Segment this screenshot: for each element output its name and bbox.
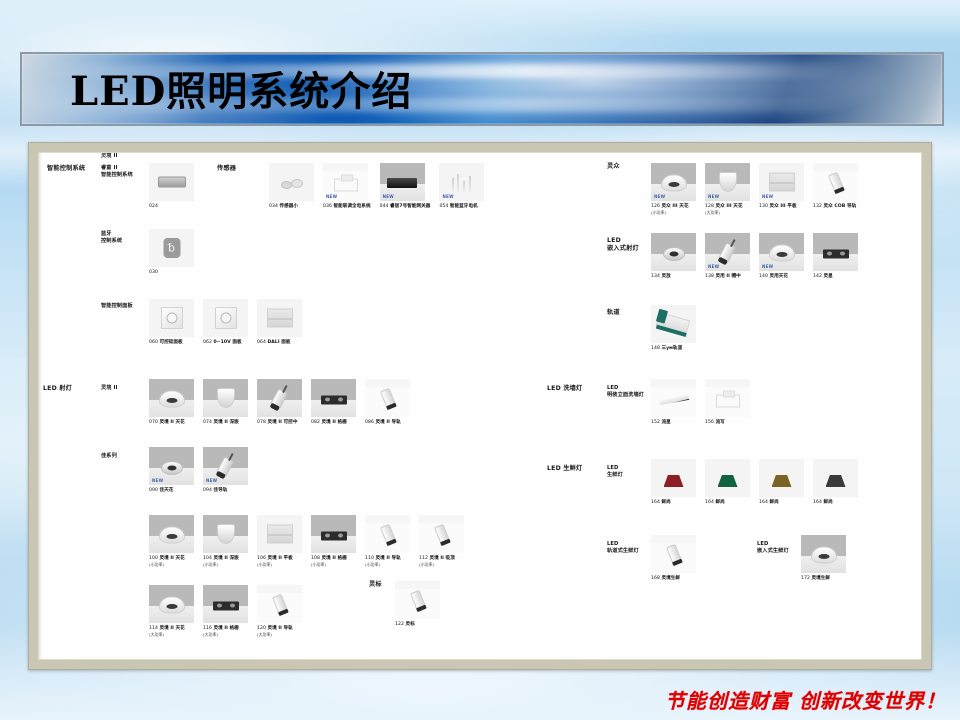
product-name: DALI 面板 xyxy=(267,340,290,345)
product-name: 智能蓝牙电机 xyxy=(450,204,478,209)
product-name: 佳导轨 xyxy=(213,488,227,493)
product-art-grille xyxy=(213,601,239,610)
product-caption: 122 灵标 xyxy=(395,622,440,628)
product-art-downlight xyxy=(159,596,185,613)
product-caption: 044 睿居7号智能网关器 xyxy=(380,204,431,210)
product-note: (大功率) xyxy=(705,210,750,215)
product-name: 灵境 II 可控中 xyxy=(267,420,297,425)
product-code: 164 xyxy=(759,500,769,505)
product-thumbnail xyxy=(203,515,248,553)
product-card[interactable]: NEW090 佳天花 xyxy=(149,447,194,494)
product-name: 灵境 II 深嵌 xyxy=(213,420,238,425)
product-art-driverbox xyxy=(158,177,186,188)
product-card[interactable]: 078 灵境 II 可控中 xyxy=(257,379,302,426)
product-caption: 172 灵境生鲜 xyxy=(801,576,846,582)
product-thumbnail xyxy=(365,379,410,417)
subcategory-title: 蓝牙 控制系统 xyxy=(101,231,122,246)
product-code: 100 xyxy=(149,556,159,561)
product-card[interactable]: 142 灵星 xyxy=(813,233,858,280)
section-title-led-spotlight: LED 射灯 xyxy=(43,385,72,393)
product-thumbnail: NEW xyxy=(380,163,425,201)
product-art-wallbox xyxy=(334,179,358,192)
product-caption: 112 灵境 II 吸顶(小功率) xyxy=(419,556,464,567)
product-caption: 090 佳天花 xyxy=(149,488,194,494)
product-card[interactable]: 086 灵境 II 导轨 xyxy=(365,379,410,426)
product-card[interactable]: 024 xyxy=(149,163,194,210)
product-code: 130 xyxy=(759,204,769,209)
product-caption: 110 灵境 II 导轨(小功率) xyxy=(365,556,410,567)
product-card[interactable]: 108 灵境 II 格栅(小功率) xyxy=(311,515,356,567)
product-card[interactable]: 060 可控硅面板 xyxy=(149,299,194,346)
product-art-blackbox xyxy=(387,178,417,188)
product-row: 134 灵放NEW138 灵用 II 帽中NEW140 灵用天花142 灵星 xyxy=(651,233,867,280)
product-code: 108 xyxy=(311,556,321,561)
product-code: 134 xyxy=(651,274,661,279)
product-note: (大功率) xyxy=(203,632,248,637)
product-row: 060 可控硅面板062 0~10V 面板064 DALI 面板 xyxy=(149,299,311,346)
product-row: 114 灵境 II 天花(大功率)116 灵境 II 格栅(大功率)120 灵境… xyxy=(149,585,311,637)
product-card[interactable]: 082 灵境 II 格栅 xyxy=(311,379,356,426)
product-card[interactable]: 168 灵境生鲜 xyxy=(651,535,696,582)
product-note: (大功率) xyxy=(257,632,302,637)
product-name: 鲜尚 xyxy=(715,500,724,505)
section-title-ling-biao: 灵标 xyxy=(369,581,382,589)
product-caption: 094 佳导轨 xyxy=(203,488,248,494)
product-thumbnail xyxy=(813,233,858,271)
product-name: 鲜尚 xyxy=(769,500,778,505)
product-card[interactable]: 164 鲜尚 xyxy=(651,459,696,506)
section-title-smart-control: 智能控制系统 xyxy=(47,165,85,173)
product-caption: 130 灵众 III 平板 xyxy=(759,204,804,210)
page-title: LED照明系统介绍 xyxy=(70,59,412,117)
product-name: 佳天花 xyxy=(159,488,173,493)
new-badge: NEW xyxy=(206,478,217,483)
product-thumbnail xyxy=(269,163,314,201)
new-badge: NEW xyxy=(326,194,337,199)
product-art-antenna xyxy=(450,174,474,192)
product-code: 164 xyxy=(651,500,661,505)
product-thumbnail: NEW xyxy=(705,233,750,271)
product-thumbnail xyxy=(419,515,464,553)
product-name: 灵境 II 格栅 xyxy=(321,556,346,561)
product-note: (小功率) xyxy=(651,210,696,215)
product-caption: 036 智能联调全电系统 xyxy=(323,204,371,210)
product-code: 156 xyxy=(705,420,715,425)
product-code: 110 xyxy=(365,556,375,561)
product-code: 164 xyxy=(813,500,823,505)
product-thumbnail xyxy=(311,379,356,417)
product-note: (小功率) xyxy=(311,562,356,567)
section-title-ling-zhong: 灵众 xyxy=(607,163,620,171)
new-badge: NEW xyxy=(708,194,719,199)
product-card[interactable]: 152 流星 xyxy=(651,379,696,426)
product-card[interactable]: NEW140 灵用天花 xyxy=(759,233,804,280)
product-caption: 120 灵境 II 导轨(大功率) xyxy=(257,626,302,637)
product-note: (大功率) xyxy=(149,632,194,637)
subcategory-title: 智能控制面板 xyxy=(101,303,133,310)
new-badge: NEW xyxy=(762,194,773,199)
section-title-track: 轨道 xyxy=(607,309,620,317)
product-note: (小功率) xyxy=(365,562,410,567)
product-code: 152 xyxy=(651,420,661,425)
product-card[interactable]: NEW036 智能联调全电系统 xyxy=(323,163,371,210)
product-thumbnail xyxy=(651,459,696,497)
product-art-wallbox xyxy=(716,395,740,408)
product-card[interactable]: 134 灵放 xyxy=(651,233,696,280)
product-name: 灵放 xyxy=(661,274,670,279)
product-code: 122 xyxy=(395,622,405,627)
product-thumbnail xyxy=(203,379,248,417)
product-note: (小功率) xyxy=(257,562,302,567)
product-row: 152 流星156 流写 xyxy=(651,379,759,426)
product-card[interactable]: 120 灵境 II 导轨(大功率) xyxy=(257,585,302,637)
product-code: 142 xyxy=(813,274,823,279)
product-thumbnail: NEW xyxy=(705,163,750,201)
product-code: 036 xyxy=(323,204,333,209)
product-row: 070 灵境 II 天花074 灵境 II 深嵌078 灵境 II 可控中082… xyxy=(149,379,419,426)
section-title-led-recessed: LED 嵌入式射灯 xyxy=(607,237,639,254)
product-name: 灵境 II 导轨 xyxy=(375,556,400,561)
product-row: 030 xyxy=(149,229,203,276)
product-row: 164 鲜尚164 鲜尚164 鲜尚164 鲜尚 xyxy=(651,459,867,506)
product-art-grille xyxy=(823,249,849,258)
product-thumbnail xyxy=(149,585,194,623)
product-caption: 024 xyxy=(149,204,194,210)
product-card[interactable]: 034 传感器小 xyxy=(269,163,314,210)
product-name: 三ум轨道 xyxy=(661,346,682,351)
product-code: 034 xyxy=(269,204,279,209)
product-thumbnail xyxy=(203,585,248,623)
product-art-sensor xyxy=(281,179,303,187)
product-code: 112 xyxy=(419,556,429,561)
product-card[interactable]: 074 灵境 II 深嵌 xyxy=(203,379,248,426)
product-card[interactable]: 114 灵境 II 天花(大功率) xyxy=(149,585,194,637)
product-name: 灵境 II 吸顶 xyxy=(429,556,454,561)
product-code: 074 xyxy=(203,420,213,425)
product-card[interactable]: 164 鲜尚 xyxy=(759,459,804,506)
product-code: 060 xyxy=(149,340,159,345)
product-row: 034 传感器小NEW036 智能联调全电系统NEW044 睿居7号智能网关器N… xyxy=(269,163,493,210)
product-note: (小功率) xyxy=(149,562,194,567)
product-note: (小功率) xyxy=(419,562,464,567)
product-thumbnail xyxy=(705,379,750,417)
product-card[interactable]: NEW126 灵众 III 天花(小功率) xyxy=(651,163,696,215)
product-thumbnail xyxy=(149,515,194,553)
product-card[interactable]: 172 灵境生鲜 xyxy=(801,535,846,582)
product-name: 灵境 II 导轨 xyxy=(267,626,292,631)
product-card[interactable]: 132 灵众 COB 导轨 xyxy=(813,163,858,215)
product-art-downlight xyxy=(769,244,795,261)
new-badge: NEW xyxy=(442,194,453,199)
product-art-flatpanel xyxy=(769,173,795,192)
product-thumbnail xyxy=(813,459,858,497)
product-name: 灵用 II 帽中 xyxy=(715,274,740,279)
product-card[interactable]: 156 流写 xyxy=(705,379,750,426)
product-code: 126 xyxy=(651,204,661,209)
product-thumbnail xyxy=(311,515,356,553)
section-title-sensors: 传感器 xyxy=(217,165,236,173)
catalog-sheet: 智能控制系统睿童 II 智能控制系统024 蓝牙 控制系统030 智能控制面板0… xyxy=(38,152,922,660)
product-name: 可控硅面板 xyxy=(159,340,182,345)
product-row: 168 灵境生鲜 xyxy=(651,535,705,582)
product-art-flatpanel xyxy=(267,525,293,544)
product-code: 148 xyxy=(651,346,661,351)
subcategory-title: LED 生鲜灯 xyxy=(607,465,623,480)
product-code: 138 xyxy=(705,274,715,279)
subcategory-title: LED 轨道式生鲜灯 xyxy=(607,541,639,556)
product-caption: 164 鲜尚 xyxy=(813,500,858,506)
product-code: 044 xyxy=(380,204,390,209)
product-thumbnail: NEW xyxy=(149,447,194,485)
product-art-downlight xyxy=(159,526,185,543)
new-badge: NEW xyxy=(708,264,719,269)
product-thumbnail xyxy=(801,535,846,573)
product-caption: 108 灵境 II 格栅(小功率) xyxy=(311,556,356,567)
product-row: 172 灵境生鲜 xyxy=(801,535,855,582)
product-caption: 104 灵境 II 深嵌(小功率) xyxy=(203,556,248,567)
product-thumbnail: NEW xyxy=(439,163,484,201)
product-caption: 126 灵众 III 天花(小功率) xyxy=(651,204,696,215)
product-code: 172 xyxy=(801,576,811,581)
product-caption: 034 传感器小 xyxy=(269,204,314,210)
product-code: 104 xyxy=(203,556,213,561)
product-thumbnail xyxy=(759,459,804,497)
product-code: 132 xyxy=(813,204,823,209)
product-caption: 070 灵境 II 天花 xyxy=(149,420,194,426)
product-name: 灵标 xyxy=(405,622,414,627)
product-thumbnail xyxy=(149,299,194,337)
product-caption: 116 灵境 II 格栅(大功率) xyxy=(203,626,248,637)
product-name: 灵众 III 平板 xyxy=(769,204,796,209)
product-caption: 062 0~10V 面板 xyxy=(203,340,248,346)
product-code: 168 xyxy=(651,576,661,581)
footer-slogan: 节能创造财富 创新改变世界！ xyxy=(665,685,946,714)
product-art-downlight xyxy=(661,174,687,191)
product-caption: 064 DALI 面板 xyxy=(257,340,302,346)
product-card[interactable]: 062 0~10V 面板 xyxy=(203,299,248,346)
product-art-grille xyxy=(321,395,347,404)
product-caption: 142 灵星 xyxy=(813,274,858,280)
product-name: 灵境 II 格栅 xyxy=(321,420,346,425)
product-caption: 152 流星 xyxy=(651,420,696,426)
product-thumbnail xyxy=(149,163,194,201)
product-card[interactable]: 110 灵境 II 导轨(小功率) xyxy=(365,515,410,567)
product-caption: 156 流写 xyxy=(705,420,750,426)
subcategory-title: LED 明装立面洗墙灯 xyxy=(607,385,644,400)
product-art-panelsq xyxy=(161,307,183,329)
product-card[interactable]: 164 鲜尚 xyxy=(813,459,858,506)
product-card[interactable]: 122 灵标 xyxy=(395,581,440,628)
product-name: 鲜尚 xyxy=(661,500,670,505)
product-code: 086 xyxy=(365,420,375,425)
product-caption: 132 灵众 COB 导轨 xyxy=(813,204,858,210)
product-card[interactable]: NEW138 灵用 II 帽中 xyxy=(705,233,750,280)
product-name: 鲜尚 xyxy=(823,500,832,505)
product-code: 116 xyxy=(203,626,213,631)
product-thumbnail xyxy=(149,379,194,417)
product-card[interactable]: 106 灵境 II 平板(小功率) xyxy=(257,515,302,567)
catalog-poster-frame: 智能控制系统睿童 II 智能控制系统024 蓝牙 控制系统030 智能控制面板0… xyxy=(28,142,932,670)
product-card[interactable]: 030 xyxy=(149,229,194,276)
product-caption: 164 鲜尚 xyxy=(705,500,750,506)
product-name: 智能联调全电系统 xyxy=(333,204,370,209)
product-card[interactable]: 116 灵境 II 格栅(大功率) xyxy=(203,585,248,637)
product-art-flatpanel xyxy=(267,309,293,328)
product-art-panelsq xyxy=(215,307,237,329)
subcategory-title: LED 嵌入式生鲜灯 xyxy=(757,541,789,556)
product-art-ring xyxy=(161,461,183,475)
product-caption: 030 xyxy=(149,270,194,276)
product-caption: 164 鲜尚 xyxy=(651,500,696,506)
product-caption: 054 智能蓝牙电机 xyxy=(439,204,484,210)
product-thumbnail xyxy=(395,581,440,619)
product-card[interactable]: NEW054 智能蓝牙电机 xyxy=(439,163,484,210)
product-row: NEW090 佳天花NEW094 佳导轨 xyxy=(149,447,257,494)
product-caption: 128 灵众 III 天花(大功率) xyxy=(705,204,750,215)
new-badge: NEW xyxy=(383,194,394,199)
product-thumbnail xyxy=(257,585,302,623)
product-card[interactable]: NEW130 灵众 III 平板 xyxy=(759,163,804,215)
product-code: 114 xyxy=(149,626,159,631)
product-thumbnail xyxy=(705,459,750,497)
product-name: 灵境 II 格栅 xyxy=(213,626,238,631)
product-name: 灵境 II 天花 xyxy=(159,420,184,425)
product-name: 灵众 COB 导轨 xyxy=(823,204,856,209)
product-code: 106 xyxy=(257,556,267,561)
product-thumbnail xyxy=(651,305,696,343)
new-badge: NEW xyxy=(152,478,163,483)
product-art-ring xyxy=(663,247,685,261)
slide-canvas: LED照明系统介绍 智能控制系统睿童 II 智能控制系统024 蓝牙 控制系统0… xyxy=(0,0,960,720)
product-card[interactable]: 070 灵境 II 天花 xyxy=(149,379,194,426)
product-name: 0~10V 面板 xyxy=(213,340,241,345)
product-card[interactable]: 164 鲜尚 xyxy=(705,459,750,506)
product-art-grille xyxy=(321,531,347,540)
product-card[interactable]: NEW094 佳导轨 xyxy=(203,447,248,494)
product-name: 灵境生鲜 xyxy=(811,576,830,581)
title-banner: LED照明系统介绍 xyxy=(20,52,944,126)
product-name: 灵众 III 天花 xyxy=(715,204,742,209)
product-code: 064 xyxy=(257,340,267,345)
product-thumbnail xyxy=(651,233,696,271)
product-caption: 168 灵境生鲜 xyxy=(651,576,696,582)
subcategory-title: 灵境 II xyxy=(101,385,118,392)
product-name: 流写 xyxy=(715,420,724,425)
product-art-btlogo xyxy=(163,238,180,258)
product-name: 传感器小 xyxy=(279,204,298,209)
section-title-led-wallwasher: LED 洗墙灯 xyxy=(547,385,582,393)
product-code: 094 xyxy=(203,488,213,493)
product-caption: 138 灵用 II 帽中 xyxy=(705,274,750,280)
product-name: 灵境 II 导轨 xyxy=(375,420,400,425)
product-code: 062 xyxy=(203,340,213,345)
product-row: 024 xyxy=(149,163,203,210)
product-thumbnail xyxy=(651,535,696,573)
product-caption: 074 灵境 II 深嵌 xyxy=(203,420,248,426)
product-thumbnail: NEW xyxy=(323,163,368,201)
product-name: 流星 xyxy=(661,420,670,425)
product-code: 070 xyxy=(149,420,159,425)
product-code: 054 xyxy=(439,204,449,209)
product-caption: 078 灵境 II 可控中 xyxy=(257,420,302,426)
product-thumbnail xyxy=(257,299,302,337)
cloud-band-top xyxy=(0,0,960,38)
product-caption: 114 灵境 II 天花(大功率) xyxy=(149,626,194,637)
product-thumbnail xyxy=(203,299,248,337)
product-caption: 082 灵境 II 格栅 xyxy=(311,420,356,426)
product-name: 灵境 II 深嵌 xyxy=(213,556,238,561)
product-thumbnail xyxy=(365,515,410,553)
product-code: 030 xyxy=(149,270,158,275)
product-note: (小功率) xyxy=(203,562,248,567)
product-card[interactable]: 104 灵境 II 深嵌(小功率) xyxy=(203,515,248,567)
product-name: 灵境 II 天花 xyxy=(159,556,184,561)
product-name: 灵用天花 xyxy=(769,274,788,279)
product-row: 148 三ум轨道 xyxy=(651,305,705,352)
section-title-led-fresh: LED 生鲜灯 xyxy=(547,465,582,473)
product-caption: 106 灵境 II 平板(小功率) xyxy=(257,556,302,567)
product-card[interactable]: NEW128 灵众 III 天花(大功率) xyxy=(705,163,750,215)
subcategory-title: 灵境 II xyxy=(101,153,118,160)
product-caption: 060 可控硅面板 xyxy=(149,340,194,346)
new-badge: NEW xyxy=(654,194,665,199)
product-caption: 148 三ум轨道 xyxy=(651,346,696,352)
product-card[interactable]: NEW044 睿居7号智能网关器 xyxy=(380,163,431,210)
product-caption: 086 灵境 II 导轨 xyxy=(365,420,410,426)
product-thumbnail: NEW xyxy=(759,163,804,201)
product-caption: 134 灵放 xyxy=(651,274,696,280)
product-code: 082 xyxy=(311,420,321,425)
product-code: 120 xyxy=(257,626,267,631)
product-row: 100 灵境 II 天花(小功率)104 灵境 II 深嵌(小功率)106 灵境… xyxy=(149,515,473,567)
product-code: 090 xyxy=(149,488,159,493)
product-name: 灵众 III 天花 xyxy=(661,204,688,209)
product-thumbnail: NEW xyxy=(203,447,248,485)
product-card[interactable]: 100 灵境 II 天花(小功率) xyxy=(149,515,194,567)
product-art-downlight xyxy=(811,546,837,563)
product-code: 128 xyxy=(705,204,715,209)
product-card[interactable]: 112 灵境 II 吸顶(小功率) xyxy=(419,515,464,567)
product-thumbnail xyxy=(813,163,858,201)
product-card[interactable]: 064 DALI 面板 xyxy=(257,299,302,346)
product-code: 164 xyxy=(705,500,715,505)
product-thumbnail: NEW xyxy=(759,233,804,271)
product-caption: 140 灵用天花 xyxy=(759,274,804,280)
product-row: NEW126 灵众 III 天花(小功率)NEW128 灵众 III 天花(大功… xyxy=(651,163,867,215)
product-code: 078 xyxy=(257,420,267,425)
product-thumbnail xyxy=(257,515,302,553)
product-thumbnail xyxy=(257,379,302,417)
product-thumbnail xyxy=(651,379,696,417)
product-art-downlight xyxy=(159,390,185,407)
product-row: 122 灵标 xyxy=(395,581,449,628)
product-name: 灵星 xyxy=(823,274,832,279)
product-card[interactable]: 148 三ум轨道 xyxy=(651,305,696,352)
subcategory-title: 佳系列 xyxy=(101,453,117,460)
product-name: 灵境生鲜 xyxy=(661,576,680,581)
product-thumbnail xyxy=(149,229,194,267)
product-caption: 164 鲜尚 xyxy=(759,500,804,506)
new-badge: NEW xyxy=(762,264,773,269)
subcategory-title: 睿童 II 智能控制系统 xyxy=(101,165,133,180)
product-code: 140 xyxy=(759,274,769,279)
product-name: 灵境 II 平板 xyxy=(267,556,292,561)
product-name: 睿居7号智能网关器 xyxy=(390,204,430,209)
product-caption: 100 灵境 II 天花(小功率) xyxy=(149,556,194,567)
product-name: 灵境 II 天花 xyxy=(159,626,184,631)
product-code: 024 xyxy=(149,204,158,209)
product-thumbnail: NEW xyxy=(651,163,696,201)
